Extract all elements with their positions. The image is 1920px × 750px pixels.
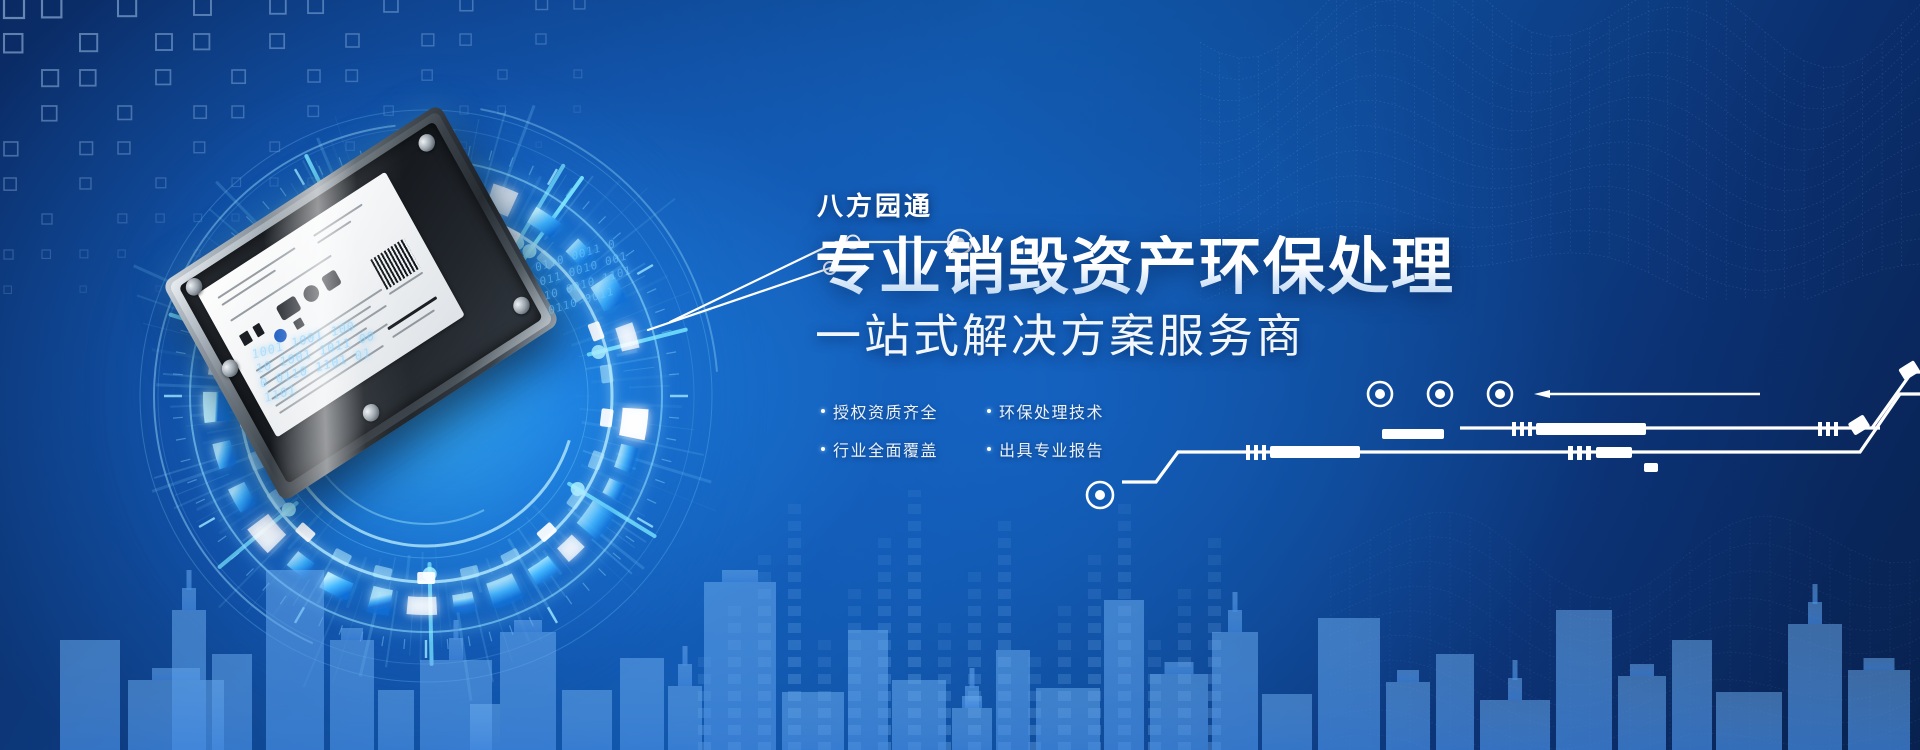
feature-row: 行业全面覆盖 出具专业报告 (821, 437, 1575, 461)
feature-item: 行业全面覆盖 (821, 437, 961, 461)
feature-label: 出具专业报告 (999, 437, 1104, 461)
feature-label: 授权资质齐全 (833, 399, 938, 423)
feature-row: 授权资质齐全 环保处理技术 (821, 399, 1575, 423)
bullet-dot-icon (821, 409, 825, 413)
banner-copy: 八方园通 专业销毁资产环保处理 一站式解决方案服务商 授权资质齐全 环保处理技术… (815, 186, 1575, 475)
feature-item: 环保处理技术 (987, 399, 1127, 423)
feature-item: 出具专业报告 (987, 437, 1127, 461)
headline: 专业销毁资产环保处理 (815, 235, 1575, 302)
city-skyline-silhouette (0, 520, 1920, 750)
hero-banner: 1001 1001 100 10 1001 1011 00 0 0110 110… (0, 0, 1920, 750)
feature-label: 环保处理技术 (999, 399, 1104, 423)
feature-item: 授权资质齐全 (821, 399, 961, 423)
bullet-dot-icon (987, 447, 991, 451)
subheadline: 一站式解决方案服务商 (815, 308, 1575, 366)
bullet-dot-icon (987, 409, 991, 413)
feature-list: 授权资质齐全 环保处理技术 行业全面覆盖 出具专业报告 (821, 399, 1575, 461)
feature-label: 行业全面覆盖 (833, 437, 938, 461)
brand-name: 八方园通 (817, 186, 1575, 223)
bullet-dot-icon (821, 447, 825, 451)
